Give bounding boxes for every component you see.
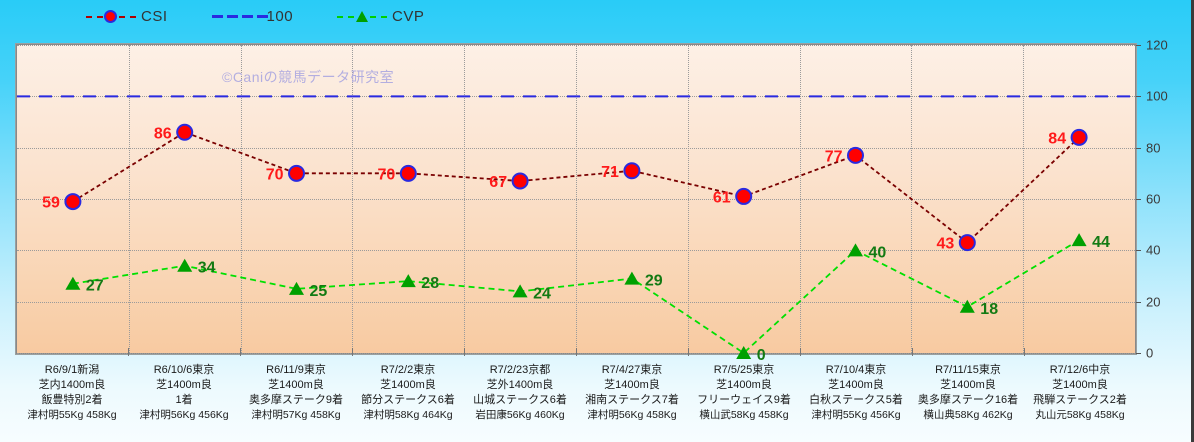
x-axis-label-line-l3: 1着 (128, 393, 240, 408)
x-axis-label-line-l2: 芝1400m良 (800, 378, 912, 393)
x-axis-label-line-l3: 飛騨ステークス2着 (1024, 393, 1136, 408)
legend-item-csi: CSI (86, 8, 168, 25)
x-axis-label-cell: R7/10/4東京芝1400m良白秋ステークス5着津村明55Kg 456Kg (800, 356, 912, 442)
x-axis-label-line-l2: 芝外1400m良 (464, 378, 576, 393)
y-axis-tick-mark (1136, 199, 1141, 200)
data-point-cvp (960, 300, 975, 313)
data-point-csi (513, 174, 528, 189)
y-axis-tick-mark (1136, 250, 1141, 251)
x-axis-label-line-l4: 丸山元58Kg 458Kg (1024, 408, 1136, 423)
data-label-csi: 61 (713, 189, 731, 206)
data-point-csi (177, 125, 192, 140)
plot-area: ©Caniの競馬データ研究室 5986707067716177438427342… (16, 44, 1136, 354)
y-axis-tick-mark (1136, 96, 1141, 97)
x-axis-label-cell: R6/9/1新潟芝内1400m良飯豊特別2着津村明55Kg 458Kg (16, 356, 128, 442)
dashed-line-icon (212, 9, 262, 25)
legend-label-cvp: CVP (392, 8, 424, 25)
data-point-cvp (624, 272, 639, 285)
data-label-csi: 86 (154, 125, 172, 142)
x-axis-label-cell: R6/10/6東京芝1400m良1着津村明56Kg 456Kg (128, 356, 240, 442)
x-axis-label-line-l4: 横山典58Kg 462Kg (912, 408, 1024, 423)
x-axis-label-line-l2: 芝1400m良 (1024, 378, 1136, 393)
x-axis-label-cell: R7/5/25東京芝1400m良フリーウェイス9着横山武58Kg 458Kg (688, 356, 800, 442)
x-axis-label-cell: R7/2/2東京芝1400m良節分ステークス6着津村明58Kg 464Kg (352, 356, 464, 442)
x-axis-label-line-l2: 芝1400m良 (576, 378, 688, 393)
x-axis-label-line-l1: R6/9/1新潟 (16, 363, 128, 378)
data-point-csi (960, 235, 975, 250)
x-axis-label-line-l3: 節分ステークス6着 (352, 393, 464, 408)
triangle-marker-icon (337, 9, 387, 25)
x-axis-label-cell: R7/11/15東京芝1400m良奥多摩ステーク16着横山典58Kg 462Kg (912, 356, 1024, 442)
x-axis-label-line-l3: 湘南ステークス7着 (576, 393, 688, 408)
data-point-csi (624, 163, 639, 178)
y-axis-tick-label: 40 (1146, 243, 1160, 258)
data-label-csi: 70 (378, 166, 396, 183)
data-point-csi (736, 189, 751, 204)
x-axis-label-line-l1: R7/12/6中京 (1024, 363, 1136, 378)
data-point-cvp (848, 243, 863, 256)
x-axis-label-line-l1: R7/5/25東京 (688, 363, 800, 378)
data-label-csi: 71 (601, 164, 619, 181)
data-label-cvp: 24 (533, 285, 551, 302)
data-label-cvp: 34 (198, 260, 216, 277)
y-axis-tick-mark (1136, 302, 1141, 303)
x-axis-labels: R6/9/1新潟芝内1400m良飯豊特別2着津村明55Kg 458KgR6/10… (16, 356, 1136, 442)
x-axis-label-line-l1: R7/11/15東京 (912, 363, 1024, 378)
y-axis-tick-label: 20 (1146, 294, 1160, 309)
y-axis-tick-mark (1136, 353, 1141, 354)
legend-label-csi: CSI (141, 8, 168, 25)
x-axis-separator (352, 348, 353, 356)
data-label-csi: 67 (489, 174, 507, 191)
x-axis-label-line-l4: 岩田康56Kg 460Kg (464, 408, 576, 423)
data-label-csi: 84 (1048, 130, 1066, 147)
series-line-csi (73, 132, 1079, 242)
data-label-cvp: 28 (421, 275, 439, 292)
x-axis-label-line-l4: 横山武58Kg 458Kg (688, 408, 800, 423)
x-axis-label-cell: R7/4/27東京芝1400m良湘南ステークス7着津村明56Kg 458Kg (576, 356, 688, 442)
data-label-csi: 59 (42, 195, 60, 212)
x-axis-label-line-l1: R7/2/23京都 (464, 363, 576, 378)
y-axis-tick-label: 120 (1146, 38, 1168, 53)
data-point-cvp (177, 259, 192, 272)
legend-label-reference: 100 (267, 8, 294, 25)
x-axis-label-line-l4: 津村明56Kg 456Kg (128, 408, 240, 423)
x-axis-label-line-l3: 白秋ステークス5着 (800, 393, 912, 408)
x-axis-label-line-l1: R7/2/2東京 (352, 363, 464, 378)
x-axis-label-line-l4: 津村明56Kg 458Kg (576, 408, 688, 423)
x-axis-separator (464, 348, 465, 356)
circle-marker-icon (86, 9, 136, 25)
plot-inner: ©Caniの競馬データ研究室 5986707067716177438427342… (17, 45, 1135, 353)
x-axis-label-line-l2: 芝1400m良 (128, 378, 240, 393)
y-axis-tick-label: 0 (1146, 346, 1153, 361)
x-axis-label-line-l4: 津村明57Kg 458Kg (240, 408, 352, 423)
data-label-cvp: 29 (645, 273, 663, 290)
x-axis-label-cell: R6/11/9東京芝1400m良奥多摩ステーク9着津村明57Kg 458Kg (240, 356, 352, 442)
data-point-cvp (513, 284, 528, 297)
x-axis-label-line-l4: 津村明55Kg 456Kg (800, 408, 912, 423)
x-axis-separator (800, 348, 801, 356)
x-axis-separator (1024, 348, 1025, 356)
x-axis-label-line-l4: 津村明55Kg 458Kg (16, 408, 128, 423)
x-axis-separator (128, 348, 129, 356)
y-axis-tick-label: 60 (1146, 192, 1160, 207)
y-axis: 020406080100120 (1140, 44, 1194, 354)
series-line-cvp (73, 240, 1079, 353)
chart-legend: CSI 100 CVP (0, 0, 1194, 33)
chart-series-svg: 598670706771617743842734252824290401844 (17, 45, 1135, 353)
x-axis-label-line-l3: 山城ステークス6着 (464, 393, 576, 408)
data-point-csi (65, 194, 80, 209)
x-axis-label-line-l2: 芝1400m良 (912, 378, 1024, 393)
x-axis-label-line-l2: 芝1400m良 (688, 378, 800, 393)
x-axis-label-cell: R7/12/6中京芝1400m良飛騨ステークス2着丸山元58Kg 458Kg (1024, 356, 1136, 442)
x-axis-label-line-l1: R7/4/27東京 (576, 363, 688, 378)
x-axis-label-line-l3: 奥多摩ステーク16着 (912, 393, 1024, 408)
legend-item-cvp: CVP (337, 8, 424, 25)
y-axis-tick-mark (1136, 45, 1141, 46)
y-axis-tick-label: 100 (1146, 89, 1168, 104)
legend-item-reference: 100 (212, 8, 294, 25)
x-axis-separator (240, 348, 241, 356)
data-point-csi (401, 166, 416, 181)
x-axis-label-line-l2: 芝1400m良 (240, 378, 352, 393)
chart-page: CSI 100 CVP ©Caniの競馬データ研究室 5986707067716… (0, 0, 1194, 442)
data-label-cvp: 27 (86, 278, 104, 295)
data-point-csi (848, 148, 863, 163)
data-label-cvp: 40 (869, 244, 887, 261)
data-label-cvp: 25 (310, 283, 328, 300)
x-axis-separator (912, 348, 913, 356)
x-axis-label-line-l3: 奥多摩ステーク9着 (240, 393, 352, 408)
y-axis-tick-mark (1136, 148, 1141, 149)
x-axis-separator (688, 348, 689, 356)
x-axis-label-line-l3: フリーウェイス9着 (688, 393, 800, 408)
data-label-cvp: 44 (1092, 234, 1110, 251)
x-axis-label-line-l1: R6/11/9東京 (240, 363, 352, 378)
x-axis-label-line-l4: 津村明58Kg 464Kg (352, 408, 464, 423)
data-point-csi (289, 166, 304, 181)
x-axis-label-line-l2: 芝内1400m良 (16, 378, 128, 393)
x-axis-label-cell: R7/2/23京都芝外1400m良山城ステークス6着岩田康56Kg 460Kg (464, 356, 576, 442)
x-axis-label-line-l1: R6/10/6東京 (128, 363, 240, 378)
x-axis-label-line-l1: R7/10/4東京 (800, 363, 912, 378)
data-point-csi (1072, 130, 1087, 145)
x-axis-label-line-l3: 飯豊特別2着 (16, 393, 128, 408)
data-point-cvp (1072, 233, 1087, 246)
y-axis-tick-label: 80 (1146, 140, 1160, 155)
x-axis-separator (576, 348, 577, 356)
data-label-csi: 70 (266, 166, 284, 183)
data-label-csi: 43 (937, 236, 955, 253)
data-label-csi: 77 (825, 148, 843, 165)
x-axis-label-line-l2: 芝1400m良 (352, 378, 464, 393)
data-label-cvp: 18 (980, 301, 998, 318)
